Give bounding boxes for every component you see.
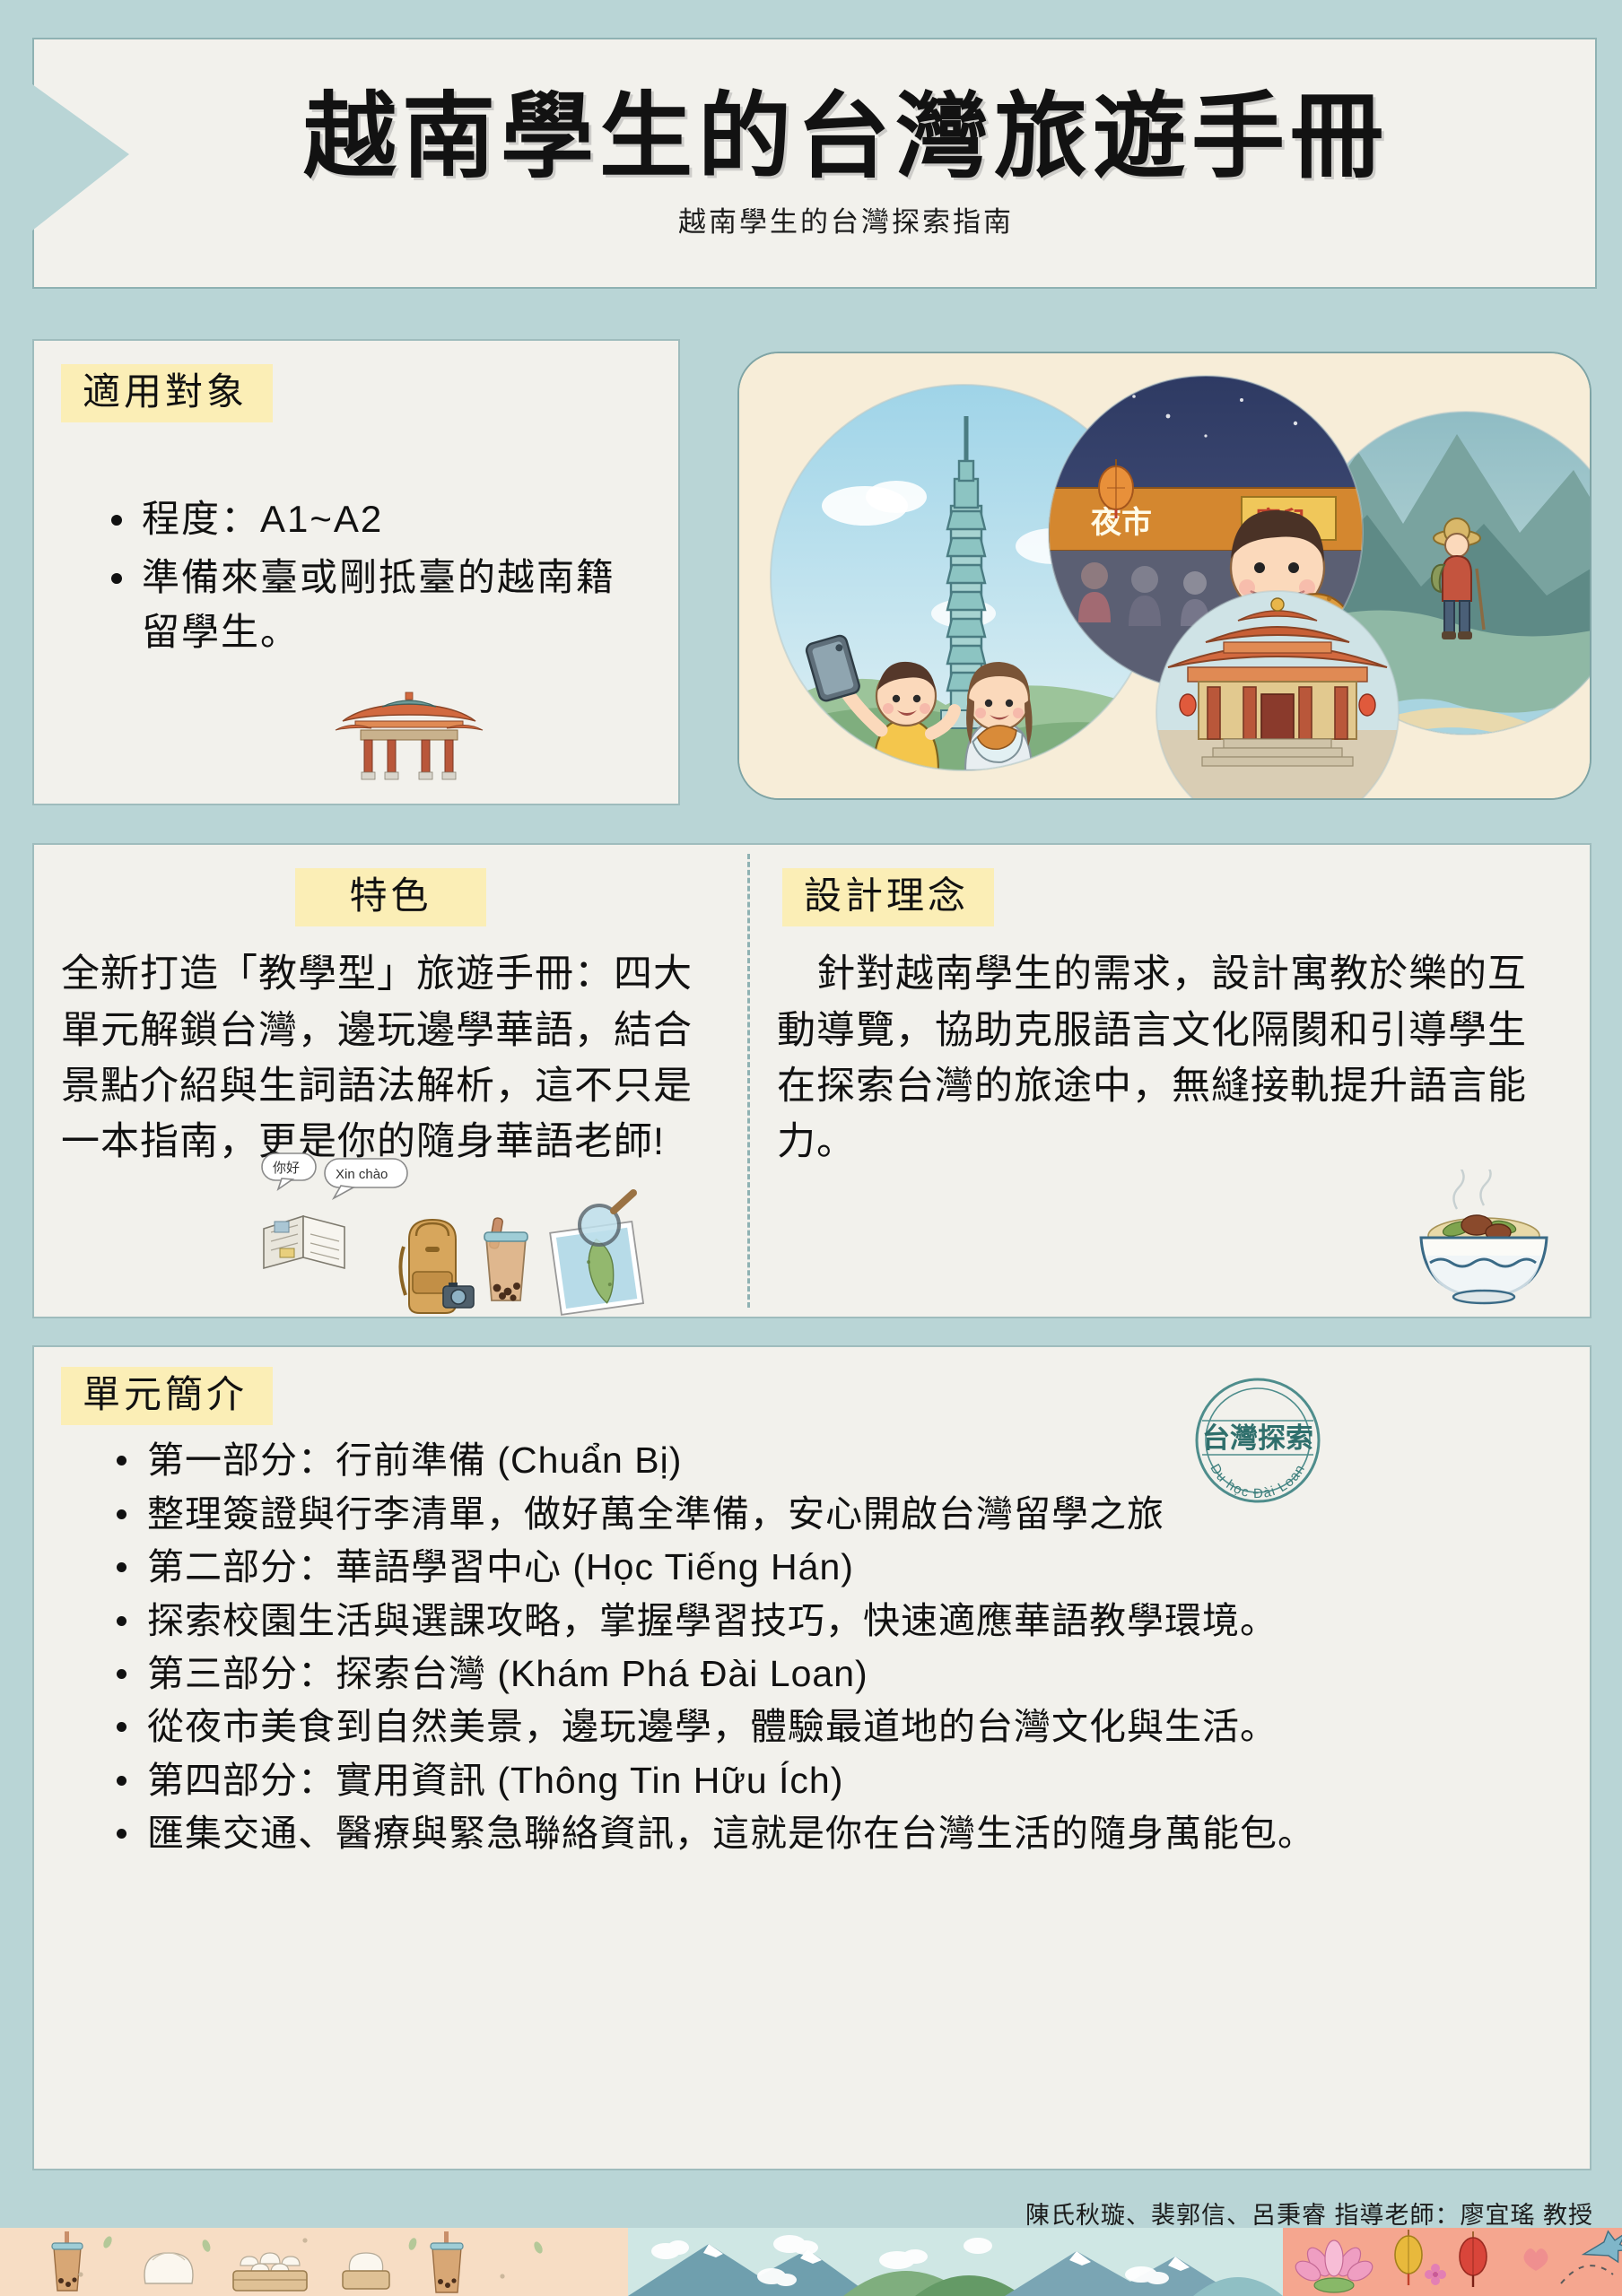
features-section: 特色 全新打造「教學型」旅遊手冊：四大單元解鎖台灣，邊玩邊學華語，結合景點介紹與… [34, 845, 747, 1317]
illustration-card: 夜市 寶兒 [737, 352, 1591, 800]
list-item: 整理簽證與行李清單，做好萬全準備，安心開啟台灣留學之旅 [115, 1488, 1461, 1541]
list-item: 第一部分：行前準備 (Chuẩn Bị) [115, 1434, 1461, 1487]
audience-list: 程度：A1~A2 準備來臺或剛抵臺的越南籍留學生。 [108, 492, 651, 660]
page-title: 越南學生的台灣旅遊手冊 [303, 87, 1389, 187]
list-item: 第四部分：實用資訊 (Thông Tin Hữu Ích) [115, 1754, 1461, 1807]
list-item: 從夜市美食到自然美景，邊玩邊學，體驗最道地的台灣文化與生活。 [115, 1700, 1461, 1753]
units-section: 單元簡介 台灣探索 Du học Đài Loan 第一部分：行前準備 (Chu… [32, 1345, 1591, 2170]
units-list: 第一部分：行前準備 (Chuẩn Bị) 整理簽證與行李清單，做好萬全準備，安心… [115, 1434, 1563, 1861]
list-item: 探索校園生活與選課攻略，掌握學習技巧，快速適應華語教學環境。 [115, 1595, 1461, 1648]
bottom-strip-illustration [0, 2228, 1622, 2296]
concept-section: 設計理念 針對越南學生的需求，設計寓教於樂的互動導覽，協助克服語言文化隔閡和引導… [750, 845, 1590, 1317]
page-subtitle: 越南學生的台灣探索指南 [678, 199, 1014, 239]
svg-text:夜市: 夜市 [1090, 505, 1152, 540]
svg-text:你好: 你好 [273, 1161, 300, 1176]
list-item: 準備來臺或剛抵臺的越南籍留學生。 [108, 551, 637, 660]
list-item: 匯集交通、醫療與緊急聯絡資訊，這就是你在台灣生活的隨身萬能包。 [115, 1807, 1461, 1860]
footer-credits: 陳氏秋璇、裴郭信、呂秉睿 指導老師：廖宜瑤 教授 [1025, 2196, 1593, 2231]
units-heading: 單元簡介 [61, 1367, 273, 1425]
list-item: 第三部分：探索台灣 (Khám Phá Đài Loan) [115, 1648, 1461, 1700]
title-banner: 越南學生的台灣旅遊手冊 越南學生的台灣探索指南 [32, 38, 1597, 289]
decorative-bottom-strip [0, 2228, 1622, 2296]
taiwan-collage-illustration: 夜市 寶兒 [739, 353, 1591, 800]
audience-heading: 適用對象 [61, 364, 273, 422]
list-item: 程度：A1~A2 [108, 492, 637, 547]
audience-section: 適用對象 程度：A1~A2 準備來臺或剛抵臺的越南籍留學生。 [32, 339, 680, 805]
features-body: 全新打造「教學型」旅遊手冊：四大單元解鎖台灣，邊玩邊學華語，結合景點介紹與生詞語… [61, 946, 720, 1170]
list-item: 第二部分：華語學習中心 (Học Tiếng Hán) [115, 1541, 1461, 1594]
features-heading: 特色 [295, 868, 485, 926]
concept-body: 針對越南學生的需求，設計寓教於樂的互動導覽，協助克服語言文化隔閡和引導學生在探索… [777, 946, 1563, 1170]
concept-heading: 設計理念 [782, 868, 994, 926]
features-concept-row: 特色 全新打造「教學型」旅遊手冊：四大單元解鎖台灣，邊玩邊學華語，結合景點介紹與… [32, 843, 1591, 1318]
temple-gate-icon [328, 685, 490, 784]
beef-noodle-bowl-icon [1391, 1170, 1579, 1313]
svg-text:Xin chào: Xin chào [336, 1167, 388, 1182]
study-travel-items-icon: 你好 Xin chào [258, 1150, 680, 1317]
